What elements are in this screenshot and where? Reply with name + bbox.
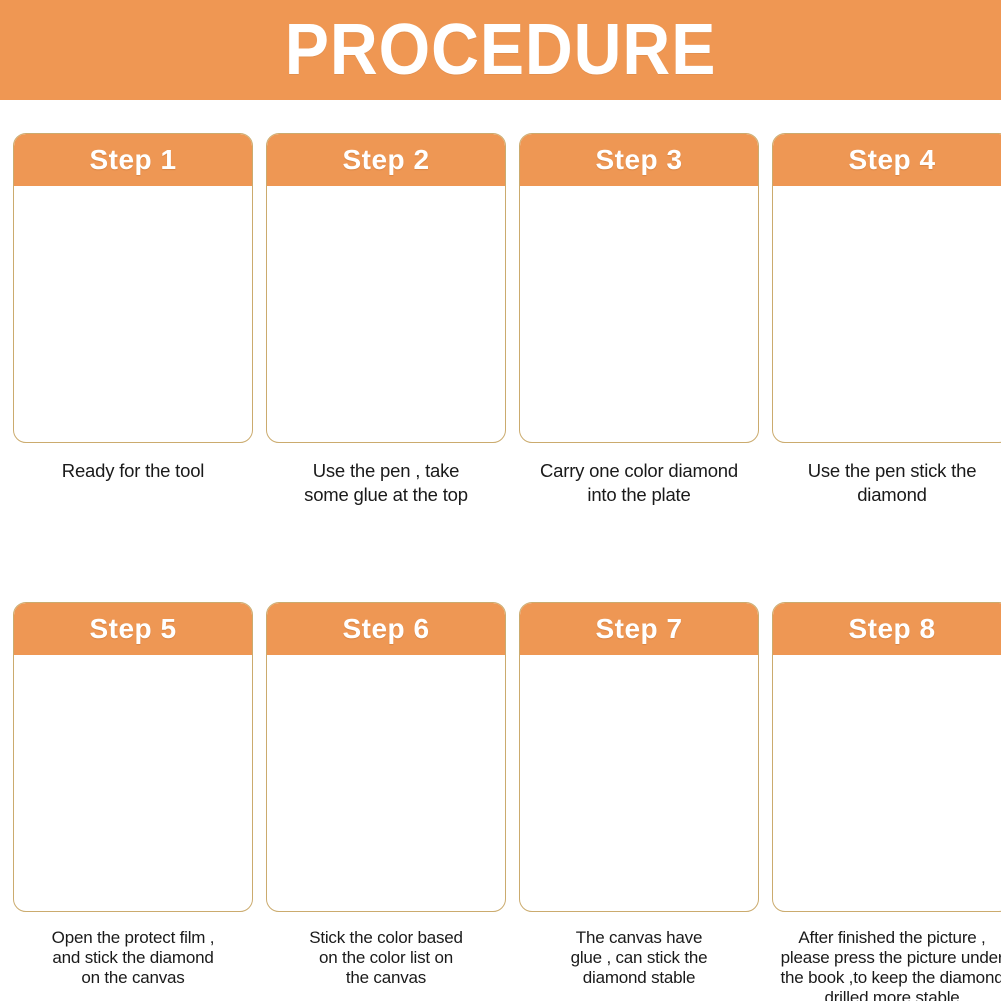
steps-row-bottom: Step 5 Open the protect film , and xyxy=(13,602,988,1001)
step-card-3[interactable]: Step 3 xyxy=(519,133,759,443)
step-caption-6: Stick the color based on the color list … xyxy=(266,928,506,988)
step-cell-7: Step 7 The canvas have glue , can xyxy=(519,602,759,1001)
step-caption-7: The canvas have glue , can stick the dia… xyxy=(519,928,759,988)
page-title: PROCEDURE xyxy=(285,14,717,86)
step-cell-6: Step 6 xyxy=(266,602,506,1001)
step-header-2: Step 2 xyxy=(267,134,505,186)
step-card-7[interactable]: Step 7 xyxy=(519,602,759,912)
step-header-label-2: Step 2 xyxy=(342,144,429,176)
step-card-5[interactable]: Step 5 xyxy=(13,602,253,912)
step-caption-2: Use the pen , take some glue at the top xyxy=(266,459,506,506)
page-banner: PROCEDURE xyxy=(0,0,1001,100)
step-caption-5: Open the protect film , and stick the di… xyxy=(13,928,253,988)
step-header-label-7: Step 7 xyxy=(595,613,682,645)
step-header-7: Step 7 xyxy=(520,603,758,655)
step-caption-8: After finished the picture , please pres… xyxy=(772,928,1001,1001)
step-caption-3: Carry one color diamond into the plate xyxy=(519,459,759,506)
step-header-label-6: Step 6 xyxy=(342,613,429,645)
step-header-3: Step 3 xyxy=(520,134,758,186)
step-cell-4: Step 4 xyxy=(772,133,1001,506)
steps-grid: Step 1 xyxy=(13,133,988,1001)
step-caption-4: Use the pen stick the diamond xyxy=(772,459,1001,506)
step-header-6: Step 6 xyxy=(267,603,505,655)
step-cell-5: Step 5 Open the protect film , and xyxy=(13,602,253,1001)
step-header-label-5: Step 5 xyxy=(89,613,176,645)
step-card-1[interactable]: Step 1 xyxy=(13,133,253,443)
step-caption-1: Ready for the tool xyxy=(13,459,253,483)
step-header-label-8: Step 8 xyxy=(848,613,935,645)
step-card-4[interactable]: Step 4 xyxy=(772,133,1001,443)
step-header-5: Step 5 xyxy=(14,603,252,655)
step-cell-1: Step 1 xyxy=(13,133,253,506)
step-cell-2: Step 2 xyxy=(266,133,506,506)
step-cell-3: Step 3 xyxy=(519,133,759,506)
step-header-1: Step 1 xyxy=(14,134,252,186)
step-header-label-4: Step 4 xyxy=(848,144,935,176)
steps-row-top: Step 1 xyxy=(13,133,988,506)
step-header-8: Step 8 xyxy=(773,603,1001,655)
step-header-label-3: Step 3 xyxy=(595,144,682,176)
step-card-8[interactable]: Step 8 xyxy=(772,602,1001,912)
step-cell-8: Step 8 xyxy=(772,602,1001,1001)
step-header-label-1: Step 1 xyxy=(89,144,176,176)
step-card-6[interactable]: Step 6 xyxy=(266,602,506,912)
step-header-4: Step 4 xyxy=(773,134,1001,186)
procedure-infographic: PROCEDURE Step 1 xyxy=(0,0,1001,1001)
step-card-2[interactable]: Step 2 xyxy=(266,133,506,443)
